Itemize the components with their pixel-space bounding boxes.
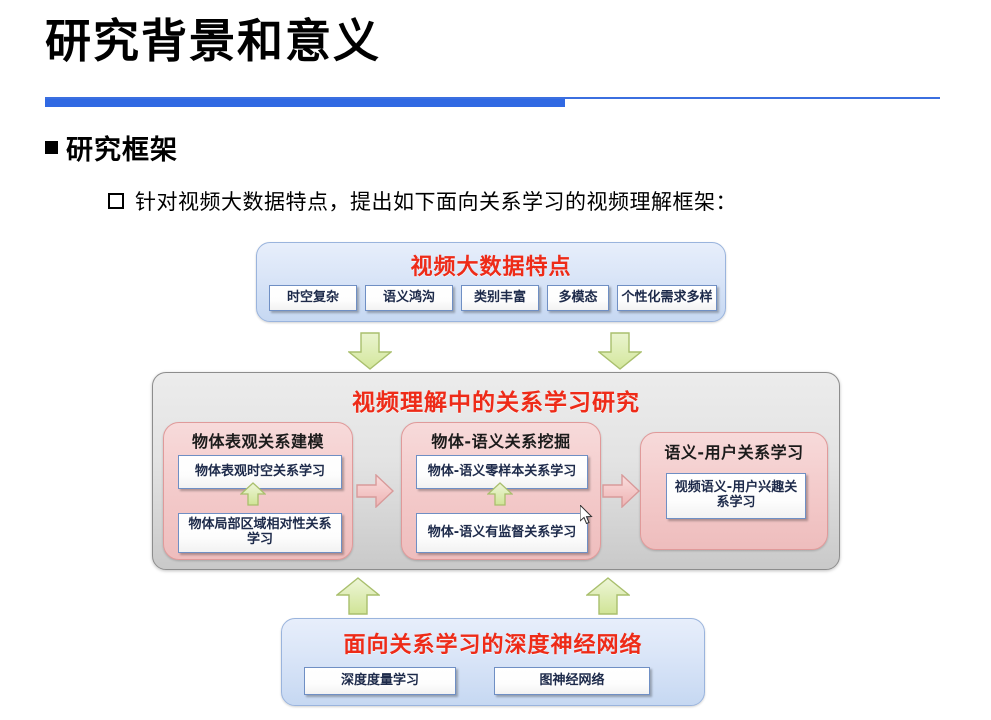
arrow-up-left-icon (336, 577, 380, 615)
arrow-right-2-icon (602, 474, 640, 508)
group-item: 视频语义-用户兴趣关系学习 (666, 473, 806, 519)
group-item: 物体局部区域相对性关系学习 (178, 513, 342, 553)
middle-panel-title: 视频理解中的关系学习研究 (153, 383, 839, 417)
group-title: 物体-语义关系挖掘 (402, 428, 600, 452)
arrow-down-left-icon (348, 332, 392, 370)
top-panel-chip: 语义鸿沟 (365, 285, 453, 311)
top-panel-chip: 个性化需求多样 (617, 285, 717, 311)
top-panel: 视频大数据特点 时空复杂 语义鸿沟 类别丰富 多模态 个性化需求多样 (256, 242, 726, 322)
bottom-panel: 面向关系学习的深度神经网络 深度度量学习 图神经网络 (281, 618, 705, 706)
top-panel-chip: 时空复杂 (269, 285, 357, 311)
framework-diagram: 视频大数据特点 时空复杂 语义鸿沟 类别丰富 多模态 个性化需求多样 视频理解中… (0, 0, 991, 720)
group-title: 物体表观关系建模 (164, 428, 352, 452)
group-title: 语义-用户关系学习 (641, 439, 827, 463)
top-panel-chip: 类别丰富 (461, 285, 539, 311)
bottom-panel-title: 面向关系学习的深度神经网络 (282, 627, 704, 659)
bottom-panel-chip: 图神经网络 (494, 667, 650, 695)
group-item: 物体-语义有监督关系学习 (416, 513, 588, 553)
group-panel-semantic-user: 语义-用户关系学习 视频语义-用户兴趣关系学习 (640, 432, 828, 550)
bottom-panel-chip: 深度度量学习 (304, 667, 456, 695)
top-panel-chip: 多模态 (547, 285, 609, 311)
arrow-up-right-icon (586, 577, 630, 615)
top-panel-title: 视频大数据特点 (257, 249, 725, 281)
arrow-right-1-icon (356, 474, 394, 508)
arrow-up-inside-group-2-icon (487, 482, 513, 506)
arrow-down-right-icon (598, 332, 642, 370)
arrow-up-inside-group-1-icon (240, 482, 266, 506)
